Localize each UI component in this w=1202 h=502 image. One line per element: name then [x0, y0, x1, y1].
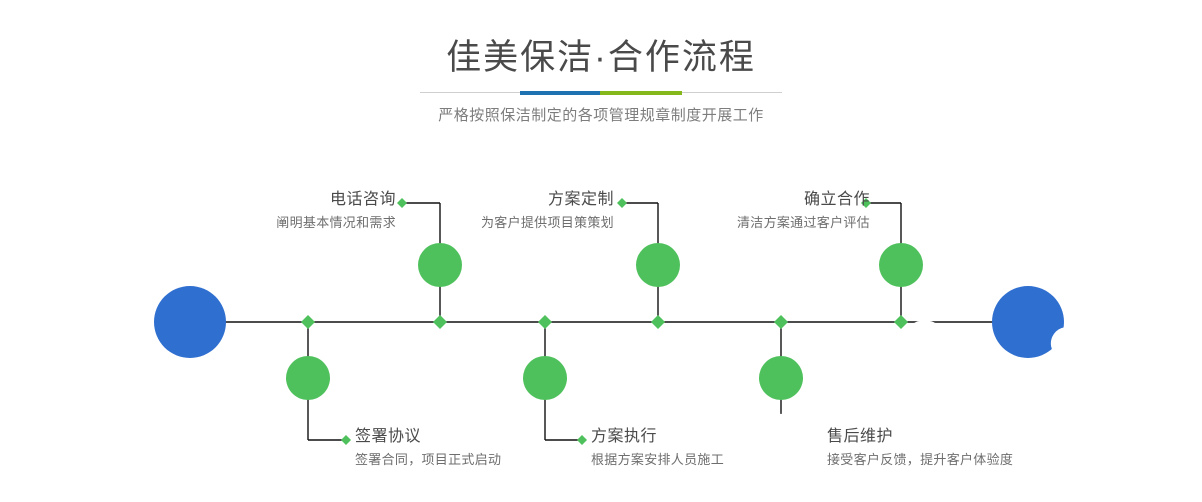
step-desc: 为客户提供项目策策划 — [481, 213, 614, 232]
step-desc: 根据方案安排人员施工 — [591, 450, 724, 469]
step-title: 方案执行 — [591, 427, 724, 447]
step-desc: 接受客户反馈，提升客户体验度 — [827, 450, 1013, 469]
cooperation-process-infographic: 佳美保洁·合作流程 严格按照保洁制定的各项管理规章制度开展工作 — [0, 0, 1202, 502]
step-desc: 清洁方案通过客户评估 — [737, 213, 870, 232]
step-icon-plan-customization[interactable] — [636, 243, 680, 287]
step-title: 电话咨询 — [276, 190, 396, 210]
step-title: 售后维护 — [827, 427, 1013, 447]
step-icon-sign-agreement[interactable] — [286, 356, 330, 400]
step-title: 方案定制 — [481, 190, 614, 210]
flow-start-node[interactable] — [154, 286, 226, 358]
process-flow-diagram: 电话咨询 阐明基本情况和需求 方案定制 为客户提供项目策策划 确立合作 清洁方案… — [0, 0, 1202, 502]
step-title: 确立合作 — [737, 190, 870, 210]
step-text-plan-execution: 方案执行 根据方案安排人员施工 — [591, 427, 724, 469]
step-text-plan-customization: 方案定制 为客户提供项目策策划 — [481, 190, 614, 232]
step-text-phone-consultation: 电话咨询 阐明基本情况和需求 — [276, 190, 396, 232]
step-text-sign-agreement: 签署协议 签署合同，项目正式启动 — [355, 427, 501, 469]
step-text-establish-cooperation: 确立合作 清洁方案通过客户评估 — [737, 190, 870, 232]
step-icon-phone-consultation[interactable] — [418, 243, 462, 287]
diamond-marker — [617, 198, 627, 208]
step-desc: 签署合同，项目正式启动 — [355, 450, 501, 469]
step-icon-after-sales-maintenance[interactable] — [759, 356, 803, 400]
step-desc: 阐明基本情况和需求 — [276, 213, 396, 232]
step-title: 签署协议 — [355, 427, 501, 447]
step-icon-plan-execution[interactable] — [523, 356, 567, 400]
step-text-after-sales-maintenance: 售后维护 接受客户反馈，提升客户体验度 — [827, 427, 1013, 469]
diamond-marker — [397, 198, 407, 208]
step-icon-establish-cooperation[interactable] — [879, 243, 923, 287]
